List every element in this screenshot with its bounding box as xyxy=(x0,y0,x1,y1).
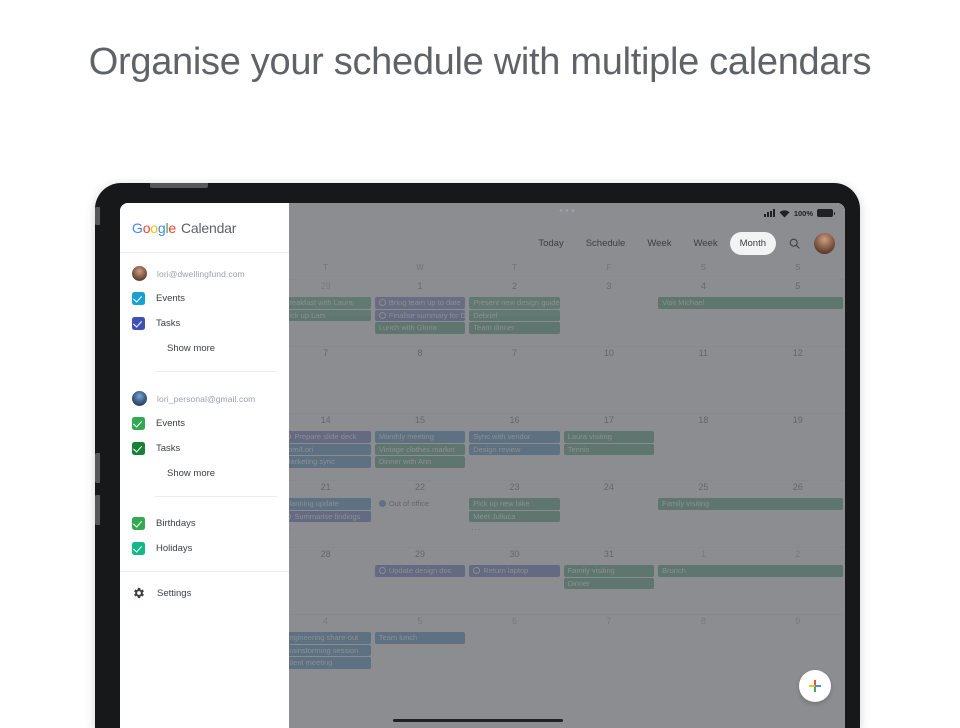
calendar-sidebar: Google Calendar lori@dwellingfund.com Ev… xyxy=(120,203,289,728)
day-cell-17[interactable]: 17 xyxy=(562,414,656,429)
device-side-button-volume-up xyxy=(95,453,100,483)
search-button[interactable] xyxy=(782,231,806,255)
sidebar-divider xyxy=(155,371,277,372)
event-title: Team lunch xyxy=(379,632,417,644)
sidebar-item-tasks-personal[interactable]: Tasks xyxy=(120,436,289,461)
event-title: Team dinner xyxy=(473,322,514,334)
event-title: Planning update xyxy=(289,498,339,510)
event-title: Client meeting xyxy=(289,657,332,669)
day-cell-1[interactable]: 1 xyxy=(656,548,750,563)
day-cell-8[interactable]: 8 xyxy=(656,615,750,630)
day-cell-5[interactable]: 5 xyxy=(373,615,467,630)
day-cell-22[interactable]: 22 xyxy=(373,481,467,496)
day-cell-28[interactable]: 28 xyxy=(289,548,373,563)
day-header-3: T xyxy=(467,263,561,279)
calendar-week-3: 20212223242526Planning updateSummarise f… xyxy=(289,480,845,547)
window-drag-handle[interactable] xyxy=(560,209,575,212)
event-title: Monthly meeting xyxy=(379,431,434,443)
create-event-fab[interactable] xyxy=(799,670,831,702)
calendar-event[interactable]: Pick up new bike xyxy=(469,498,559,510)
event-title: Debrief xyxy=(473,310,497,322)
account-email: lori_personal@gmail.com xyxy=(157,394,255,404)
calendar-event[interactable]: Team lunch xyxy=(375,632,465,644)
checkbox-checked-icon[interactable] xyxy=(132,542,145,555)
day-header-2: W xyxy=(373,263,467,279)
day-cell-1[interactable]: 1 xyxy=(373,280,467,295)
calendar-event[interactable]: Sync with vendor xyxy=(469,431,559,443)
week-day-numbers: 282912345 xyxy=(289,280,845,295)
calendar-event[interactable]: Client meeting xyxy=(289,657,371,669)
tablet-screen: Google Calendar lori@dwellingfund.com Ev… xyxy=(120,203,845,728)
day-cell-7[interactable]: 7 xyxy=(467,347,561,362)
sidebar-item-label: Birthdays xyxy=(156,518,196,529)
calendar-toolbar: TodayScheduleWeekWeekMonth xyxy=(289,223,845,263)
sidebar-account-group-personal: lori_personal@gmail.com Events Tasks Sho… xyxy=(120,378,289,490)
calendar-month-grid: MTWTFSS 282912345Breakfast with LauraPic… xyxy=(289,263,845,728)
task-circle-icon xyxy=(289,433,291,440)
day-cell-19[interactable]: 19 xyxy=(751,414,845,429)
checkbox-checked-icon[interactable] xyxy=(132,517,145,530)
sidebar-item-holidays[interactable]: Holidays xyxy=(120,536,289,561)
sidebar-other-calendars: Birthdays Holidays xyxy=(120,503,289,565)
calendar-week-1: 6787101112 xyxy=(289,346,845,413)
event-title: Laura visiting xyxy=(568,431,612,443)
day-cell-29[interactable]: 29 xyxy=(289,280,373,295)
event-title: Tom/Lori xyxy=(289,444,313,456)
day-cell-15[interactable]: 15 xyxy=(373,414,467,429)
event-title: Out of office xyxy=(389,498,429,510)
week-day-numbers: 20212223242526 xyxy=(289,481,845,496)
day-cell-30[interactable]: 30 xyxy=(467,548,561,563)
calendar-event[interactable]: Monthly meeting xyxy=(375,431,465,443)
device-side-button-power xyxy=(95,207,100,225)
sidebar-item-events-work[interactable]: Events xyxy=(120,286,289,311)
battery-icon xyxy=(817,209,833,217)
event-title: Finalise summary for Dan xyxy=(389,310,465,322)
day-header-6: S xyxy=(751,263,845,279)
day-cell-31[interactable]: 31 xyxy=(562,548,656,563)
day-cell-24[interactable]: 24 xyxy=(562,481,656,496)
day-cell-6[interactable]: 6 xyxy=(467,615,561,630)
event-title: Visit Michael xyxy=(662,297,704,309)
sidebar-account-personal[interactable]: lori_personal@gmail.com xyxy=(120,386,289,411)
calendar-event[interactable]: Return laptop xyxy=(469,565,559,577)
device-status-bar: 100% xyxy=(289,203,845,223)
day-cell-16[interactable]: 16 xyxy=(467,414,561,429)
logo-product-name: Calendar xyxy=(181,220,236,236)
calendar-event[interactable]: Debrief xyxy=(469,310,559,322)
tab-schedule-1[interactable]: Schedule xyxy=(576,232,636,255)
week-day-numbers: 6787101112 xyxy=(289,347,845,362)
event-title: Tennis xyxy=(568,444,590,456)
logo-letter-g2: g xyxy=(158,220,166,236)
tab-week-2[interactable]: Week xyxy=(637,232,681,255)
gear-icon xyxy=(132,586,146,600)
calendar-event[interactable]: Design review xyxy=(469,444,559,456)
day-cell-7[interactable]: 7 xyxy=(289,347,373,362)
calendar-event[interactable]: Out of office xyxy=(375,498,465,510)
calendar-event[interactable]: Vintage clothes market xyxy=(375,444,465,456)
calendar-week-2: 13141516171819Prepare slide deckTom/Lori… xyxy=(289,413,845,480)
page-title: Organise your schedule with multiple cal… xyxy=(80,36,880,88)
sidebar-account-group-work: lori@dwellingfund.com Events Tasks Show … xyxy=(120,253,289,365)
event-title: Bring team up to date xyxy=(389,297,461,309)
week-day-numbers: 13141516171819 xyxy=(289,414,845,429)
sidebar-item-birthdays[interactable]: Birthdays xyxy=(120,511,289,536)
event-title: Return laptop xyxy=(483,565,528,577)
sidebar-account-work[interactable]: lori@dwellingfund.com xyxy=(120,261,289,286)
event-title: Meet Juliuca xyxy=(473,511,515,523)
event-title: Family visiting xyxy=(568,565,615,577)
account-email: lori@dwellingfund.com xyxy=(157,269,245,279)
calendar-event[interactable]: Engineering share-out xyxy=(289,632,371,644)
wifi-icon xyxy=(779,209,790,218)
day-cell-10[interactable]: 10 xyxy=(562,347,656,362)
calendar-event[interactable]: Family visiting xyxy=(564,565,654,577)
calendar-event[interactable]: Meet Juliuca xyxy=(469,511,559,523)
sidebar-item-label: Events xyxy=(156,293,185,304)
task-circle-icon xyxy=(379,299,386,306)
day-cell-2[interactable]: 2 xyxy=(467,280,561,295)
event-title: Update design doc xyxy=(389,565,452,577)
more-events-indicator[interactable]: ... xyxy=(471,523,481,532)
google-calendar-logo: Google Calendar xyxy=(120,203,289,253)
home-indicator xyxy=(393,719,563,722)
task-circle-icon xyxy=(379,567,386,574)
task-circle-icon xyxy=(379,312,386,319)
calendar-weeks: 282912345Breakfast with LauraPick up Lar… xyxy=(289,279,845,681)
add-plus-icon xyxy=(807,678,823,694)
show-more-label: Show more xyxy=(167,468,215,479)
calendar-event[interactable]: Finalise summary for Dan xyxy=(375,310,465,322)
sidebar-item-tasks-work[interactable]: Tasks xyxy=(120,311,289,336)
day-cell-29[interactable]: 29 xyxy=(373,548,467,563)
calendar-event[interactable]: Lunch with Gloria xyxy=(375,322,465,334)
day-cell-4[interactable]: 4 xyxy=(289,615,373,630)
device-side-button-volume-down xyxy=(95,495,100,525)
event-title: Present new design guidelines xyxy=(473,297,559,309)
day-cell-7[interactable]: 7 xyxy=(562,615,656,630)
event-title: Pick up new bike xyxy=(473,498,529,510)
calendar-main-panel: MTWTFSS 282912345Breakfast with LauraPic… xyxy=(289,203,845,728)
calendar-event[interactable]: Tom/Lori xyxy=(289,444,371,456)
task-circle-icon xyxy=(379,500,386,507)
calendar-event[interactable]: Present new design guidelines xyxy=(469,297,559,309)
event-title: Marketing sync xyxy=(289,456,335,468)
calendar-event[interactable]: Pick up Lars xyxy=(289,310,371,322)
day-cell-4[interactable]: 4 xyxy=(656,280,750,295)
logo-letter-e: e xyxy=(168,220,176,236)
sidebar-item-label: Tasks xyxy=(156,318,180,329)
checkbox-checked-icon[interactable] xyxy=(132,292,145,305)
week-day-numbers: 3456789 xyxy=(289,615,845,630)
more-events-indicator[interactable]: ... xyxy=(289,523,292,532)
search-icon xyxy=(788,237,801,250)
sidebar-item-label: Tasks xyxy=(156,443,180,454)
event-title: Summarise findings xyxy=(294,511,360,523)
event-title: Dinner xyxy=(568,578,590,590)
task-circle-icon xyxy=(473,567,480,574)
tablet-device-frame: Google Calendar lori@dwellingfund.com Ev… xyxy=(95,183,860,728)
show-more-label: Show more xyxy=(167,343,215,354)
sidebar-item-label: Events xyxy=(156,418,185,429)
event-title: Engineering share-out xyxy=(289,632,358,644)
event-title: Family visiting xyxy=(662,498,709,510)
calendar-day-headers: MTWTFSS xyxy=(289,263,845,279)
sidebar-show-more-work[interactable]: Show more xyxy=(120,336,289,361)
calendar-week-4: 272829303112Update design docReturn lapt… xyxy=(289,547,845,614)
event-title: Pick up Lars xyxy=(289,310,326,322)
device-top-button xyxy=(150,183,208,188)
tab-today-0[interactable]: Today xyxy=(528,232,573,255)
calendar-event[interactable]: Marketing sync xyxy=(289,456,371,468)
checkbox-checked-icon[interactable] xyxy=(132,417,145,430)
sidebar-item-events-personal[interactable]: Events xyxy=(120,411,289,436)
sidebar-show-more-personal[interactable]: Show more xyxy=(120,461,289,486)
calendar-event[interactable]: Team dinner xyxy=(469,322,559,334)
calendar-event[interactable]: Summarise findings xyxy=(289,511,371,523)
calendar-week-0: 282912345Breakfast with LauraPick up Lar… xyxy=(289,279,845,346)
calendar-event[interactable]: Tennis xyxy=(564,444,654,456)
sidebar-item-label: Holidays xyxy=(156,543,192,554)
calendar-week-5: 3456789Engineering share-outBrainstormin… xyxy=(289,614,845,681)
calendar-event[interactable]: Prepare slide deck xyxy=(289,431,371,443)
calendar-event[interactable]: Dinner with Ann xyxy=(375,456,465,468)
battery-percentage: 100% xyxy=(794,209,813,218)
calendar-event[interactable]: Brunch xyxy=(658,565,843,577)
event-title: Design review xyxy=(473,444,520,456)
day-cell-25[interactable]: 25 xyxy=(656,481,750,496)
day-header-4: F xyxy=(562,263,656,279)
calendar-event[interactable]: Family visiting xyxy=(658,498,843,510)
calendar-event[interactable]: Breakfast with Laura xyxy=(289,297,371,309)
event-title: Breakfast with Laura xyxy=(289,297,353,309)
day-cell-14[interactable]: 14 xyxy=(289,414,373,429)
day-cell-21[interactable]: 21 xyxy=(289,481,373,496)
event-title: Brainstorming session xyxy=(289,645,358,657)
calendar-event[interactable]: Brainstorming session xyxy=(289,645,371,657)
event-title: Dinner with Ann xyxy=(379,456,432,468)
day-cell-23[interactable]: 23 xyxy=(467,481,561,496)
calendar-event[interactable]: Update design doc xyxy=(375,565,465,577)
user-avatar[interactable] xyxy=(814,233,835,254)
account-avatar-work xyxy=(132,266,147,281)
tab-week-3[interactable]: Week xyxy=(683,232,727,255)
calendar-event[interactable]: Bring team up to date xyxy=(375,297,465,309)
day-header-1: T xyxy=(289,263,373,279)
day-cell-18[interactable]: 18 xyxy=(656,414,750,429)
sidebar-item-settings[interactable]: Settings xyxy=(120,578,289,608)
event-title: Brunch xyxy=(662,565,686,577)
calendar-event[interactable]: Dinner xyxy=(564,578,654,590)
calendar-event[interactable]: Laura visiting xyxy=(564,431,654,443)
day-cell-11[interactable]: 11 xyxy=(656,347,750,362)
task-circle-icon xyxy=(289,513,291,520)
day-cell-3[interactable]: 3 xyxy=(562,280,656,295)
day-cell-5[interactable]: 5 xyxy=(751,280,845,295)
checkbox-checked-icon[interactable] xyxy=(132,317,145,330)
day-cell-2[interactable]: 2 xyxy=(751,548,845,563)
day-header-5: S xyxy=(656,263,750,279)
day-cell-26[interactable]: 26 xyxy=(751,481,845,496)
signal-icon xyxy=(764,209,775,217)
settings-label: Settings xyxy=(157,588,191,599)
week-day-numbers: 272829303112 xyxy=(289,548,845,563)
day-cell-8[interactable]: 8 xyxy=(373,347,467,362)
event-title: Lunch with Gloria xyxy=(379,322,437,334)
event-title: Sync with vendor xyxy=(473,431,530,443)
account-avatar-personal xyxy=(132,391,147,406)
day-cell-12[interactable]: 12 xyxy=(751,347,845,362)
logo-letter-o1: o xyxy=(143,220,151,236)
tab-month-4[interactable]: Month xyxy=(730,232,776,255)
event-title: Vintage clothes market xyxy=(379,444,455,456)
calendar-event[interactable]: Planning update xyxy=(289,498,371,510)
sidebar-divider xyxy=(155,496,277,497)
event-title: Prepare slide deck xyxy=(294,431,356,443)
day-cell-9[interactable]: 9 xyxy=(751,615,845,630)
calendar-event[interactable]: Visit Michael xyxy=(658,297,843,309)
checkbox-checked-icon[interactable] xyxy=(132,442,145,455)
logo-letter-g: G xyxy=(132,220,143,236)
logo-letter-o2: o xyxy=(150,220,158,236)
sidebar-divider xyxy=(120,571,289,572)
